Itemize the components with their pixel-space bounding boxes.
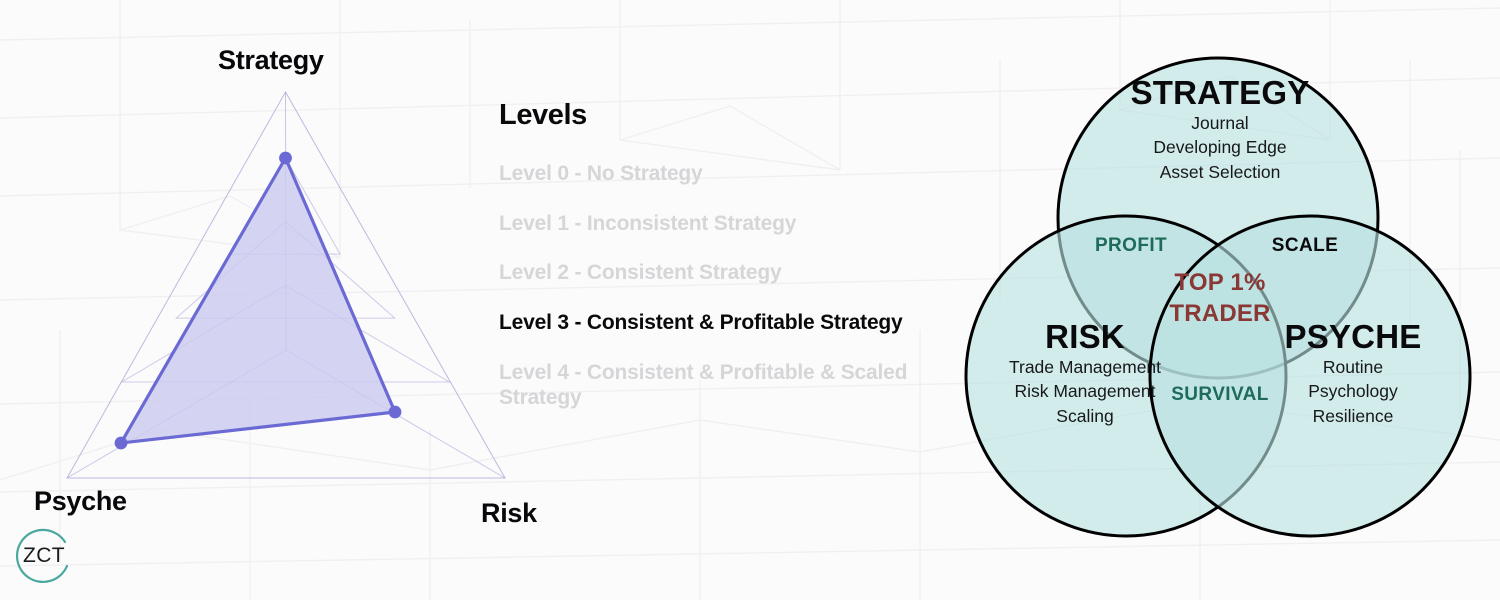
radar-axis-label-strategy: Strategy bbox=[218, 45, 324, 76]
radar-axis-label-risk: Risk bbox=[481, 498, 537, 529]
level-item-1[interactable]: Level 1 - Inconsistent Strategy bbox=[499, 212, 931, 237]
logo-text: ZCT bbox=[10, 522, 78, 590]
level-item-0[interactable]: Level 0 - No Strategy bbox=[499, 162, 931, 187]
radar-data-area bbox=[121, 158, 395, 443]
levels-title: Levels bbox=[499, 100, 969, 132]
zct-logo[interactable]: ZCT bbox=[10, 522, 78, 590]
radar-point-psyche bbox=[115, 437, 128, 450]
radar-chart-panel: Strategy Psyche Risk bbox=[0, 0, 560, 600]
radar-point-risk bbox=[389, 406, 402, 419]
level-item-3[interactable]: Level 3 - Consistent & Profitable Strate… bbox=[499, 311, 931, 336]
radar-axis-label-psyche: Psyche bbox=[34, 486, 127, 517]
level-item-2[interactable]: Level 2 - Consistent Strategy bbox=[499, 261, 931, 286]
venn-circle-psyche bbox=[1150, 216, 1470, 536]
venn-diagram bbox=[960, 28, 1480, 568]
venn-diagram-panel: STRATEGY Journal Developing Edge Asset S… bbox=[960, 28, 1480, 568]
radar-point-strategy bbox=[279, 152, 292, 165]
levels-panel: Levels Level 0 - No Strategy Level 1 - I… bbox=[499, 100, 969, 435]
level-item-4[interactable]: Level 4 - Consistent & Profitable & Scal… bbox=[499, 361, 931, 411]
